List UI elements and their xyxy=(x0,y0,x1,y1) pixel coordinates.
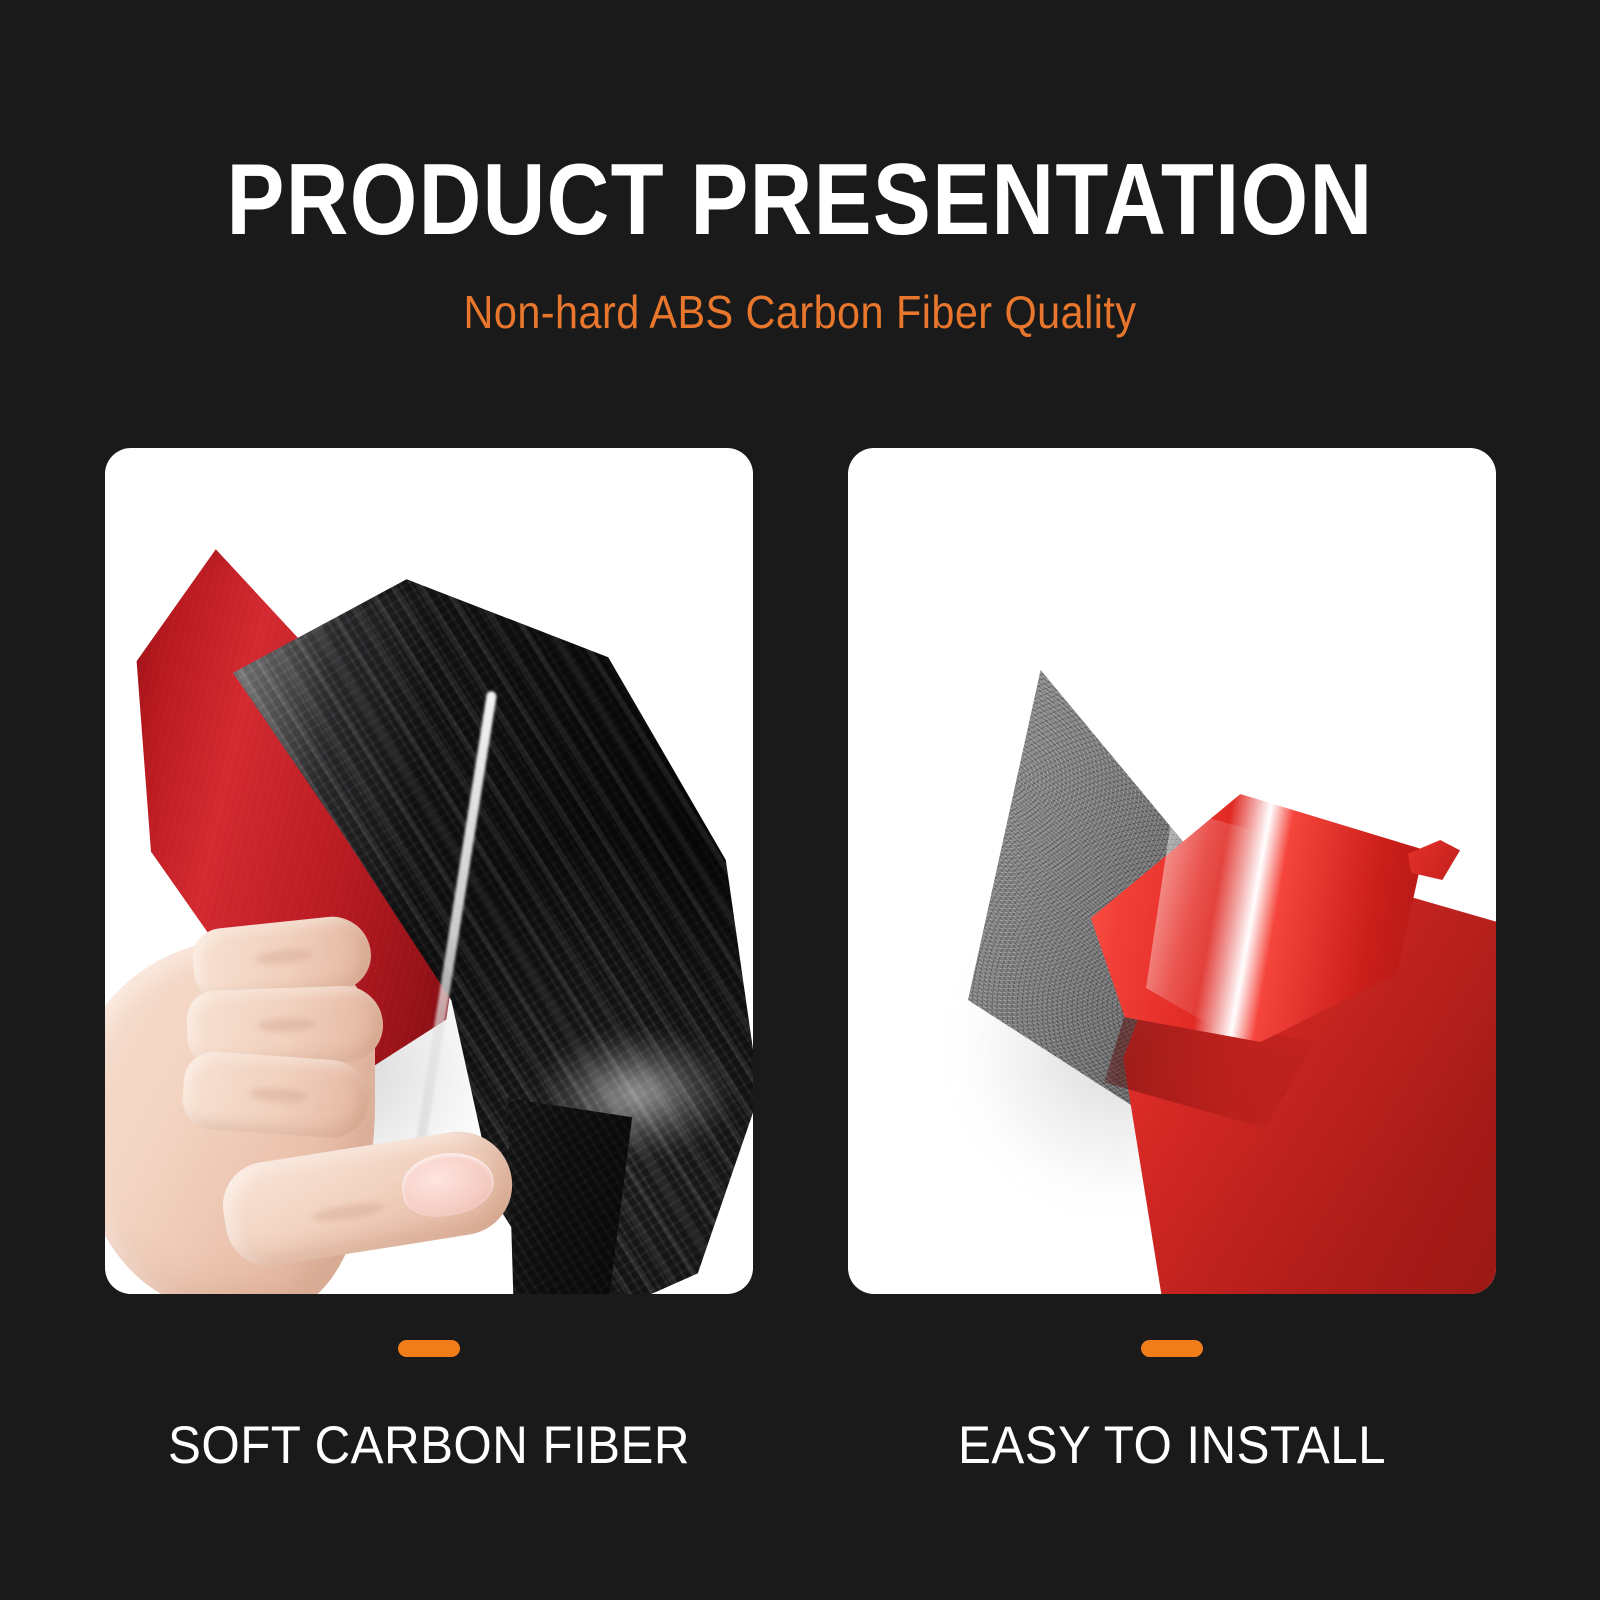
caption-soft-carbon-fiber: SOFT CARBON FIBER xyxy=(128,1419,731,1472)
caption-block-right: EASY TO INSTALL xyxy=(848,1340,1496,1472)
divider-pill-icon xyxy=(1141,1340,1203,1357)
caption-block-left: SOFT CARBON FIBER xyxy=(105,1340,753,1472)
caption-easy-to-install: EASY TO INSTALL xyxy=(871,1419,1474,1472)
ring-finger xyxy=(181,1050,372,1141)
page-subtitle: Non-hard ABS Carbon Fiber Quality xyxy=(80,289,1520,335)
thumbnail xyxy=(398,1147,499,1223)
hand-holding-part xyxy=(105,878,505,1294)
product-photo-easy-to-install xyxy=(848,448,1496,1294)
knuckle-crease xyxy=(249,1086,308,1104)
knuckle-crease xyxy=(310,1200,385,1225)
knuckle-crease xyxy=(254,947,313,967)
photo-panel-group xyxy=(0,448,1600,1294)
photo-card-soft-carbon-fiber[interactable] xyxy=(105,448,753,1294)
header: PRODUCT PRESENTATION Non-hard ABS Carbon… xyxy=(0,0,1600,335)
product-photo-soft-carbon-fiber xyxy=(105,448,753,1294)
page-title: PRODUCT PRESENTATION xyxy=(112,150,1488,251)
knuckle-crease xyxy=(257,1017,315,1033)
divider-pill-icon xyxy=(398,1340,460,1357)
photo-card-easy-to-install[interactable] xyxy=(848,448,1496,1294)
